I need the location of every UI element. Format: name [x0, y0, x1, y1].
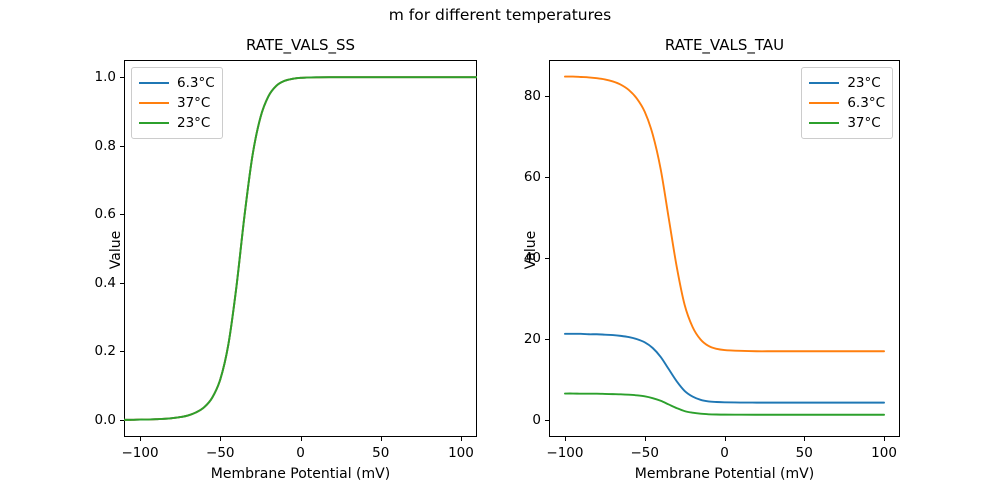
axes-right-ylabel: Value	[523, 150, 539, 350]
legend-label: 6.3°C	[177, 75, 215, 91]
ytick-mark	[120, 77, 124, 78]
ytick-mark	[120, 351, 124, 352]
axes-left-title: RATE_VALS_SS	[124, 36, 477, 54]
ytick-mark	[120, 146, 124, 147]
ytick-mark	[545, 177, 549, 178]
ytick-label: 0.2	[56, 343, 116, 359]
ytick-label: 0.6	[56, 206, 116, 222]
ytick-mark	[545, 96, 549, 97]
legend-item: 37°C	[139, 93, 215, 113]
xtick-label: 50	[372, 445, 389, 461]
xtick-label: 100	[448, 445, 474, 461]
xtick-mark	[884, 437, 885, 441]
xtick-label: −50	[206, 445, 235, 461]
legend-label: 37°C	[177, 95, 210, 111]
ytick-label: 0	[481, 412, 541, 428]
xtick-label: 100	[871, 445, 897, 461]
ytick-label: 0.8	[56, 138, 116, 154]
xtick-label: −100	[121, 445, 158, 461]
line-series-23C	[565, 334, 884, 403]
legend-item: 37°C	[809, 113, 885, 133]
legend-line-swatch	[809, 122, 839, 124]
matplotlib-figure: m for different temperatures RATE_VALS_S…	[0, 0, 1000, 500]
xtick-label: 50	[796, 445, 813, 461]
axes-right-title: RATE_VALS_TAU	[549, 36, 900, 54]
legend-item: 23°C	[139, 113, 215, 133]
legend-label: 6.3°C	[847, 95, 885, 111]
axes-left-xlabel: Membrane Potential (mV)	[124, 466, 477, 482]
xtick-mark	[220, 437, 221, 441]
legend-line-swatch	[139, 82, 169, 84]
xtick-mark	[804, 437, 805, 441]
xtick-label: 0	[296, 445, 305, 461]
legend-label: 23°C	[177, 115, 210, 131]
ytick-mark	[545, 339, 549, 340]
legend-line-swatch	[809, 102, 839, 104]
ytick-label: 1.0	[56, 69, 116, 85]
xtick-mark	[565, 437, 566, 441]
ytick-label: 0.0	[56, 412, 116, 428]
line-series-37C	[565, 394, 884, 415]
legend-line-swatch	[809, 82, 839, 84]
xtick-mark	[301, 437, 302, 441]
xtick-mark	[461, 437, 462, 441]
xtick-label: −50	[630, 445, 659, 461]
ytick-label: 80	[481, 88, 541, 104]
axes-rate-vals-ss: RATE_VALS_SS 0.00.20.40.60.81.0−100−5005…	[124, 60, 477, 437]
xtick-mark	[645, 437, 646, 441]
axes-right-xlabel: Membrane Potential (mV)	[549, 466, 900, 482]
legend-line-swatch	[139, 122, 169, 124]
legend-label: 23°C	[847, 75, 880, 91]
xtick-label: −100	[546, 445, 583, 461]
ytick-label: 0.4	[56, 275, 116, 291]
legend-item: 6.3°C	[809, 93, 885, 113]
xtick-label: 0	[720, 445, 729, 461]
ytick-mark	[120, 420, 124, 421]
legend-item: 6.3°C	[139, 73, 215, 93]
xtick-mark	[381, 437, 382, 441]
figure-suptitle: m for different temperatures	[0, 6, 1000, 24]
axes-left-ylabel: Value	[108, 150, 124, 350]
axes-left-legend[interactable]: 6.3°C37°C23°C	[131, 67, 223, 139]
xtick-mark	[725, 437, 726, 441]
axes-rate-vals-tau: RATE_VALS_TAU 020406080−100−50050100 Mem…	[549, 60, 900, 437]
legend-line-swatch	[139, 102, 169, 104]
ytick-mark	[545, 258, 549, 259]
axes-right-legend[interactable]: 23°C6.3°C37°C	[801, 67, 893, 139]
xtick-mark	[140, 437, 141, 441]
legend-item: 23°C	[809, 73, 885, 93]
legend-label: 37°C	[847, 115, 880, 131]
ytick-mark	[545, 420, 549, 421]
